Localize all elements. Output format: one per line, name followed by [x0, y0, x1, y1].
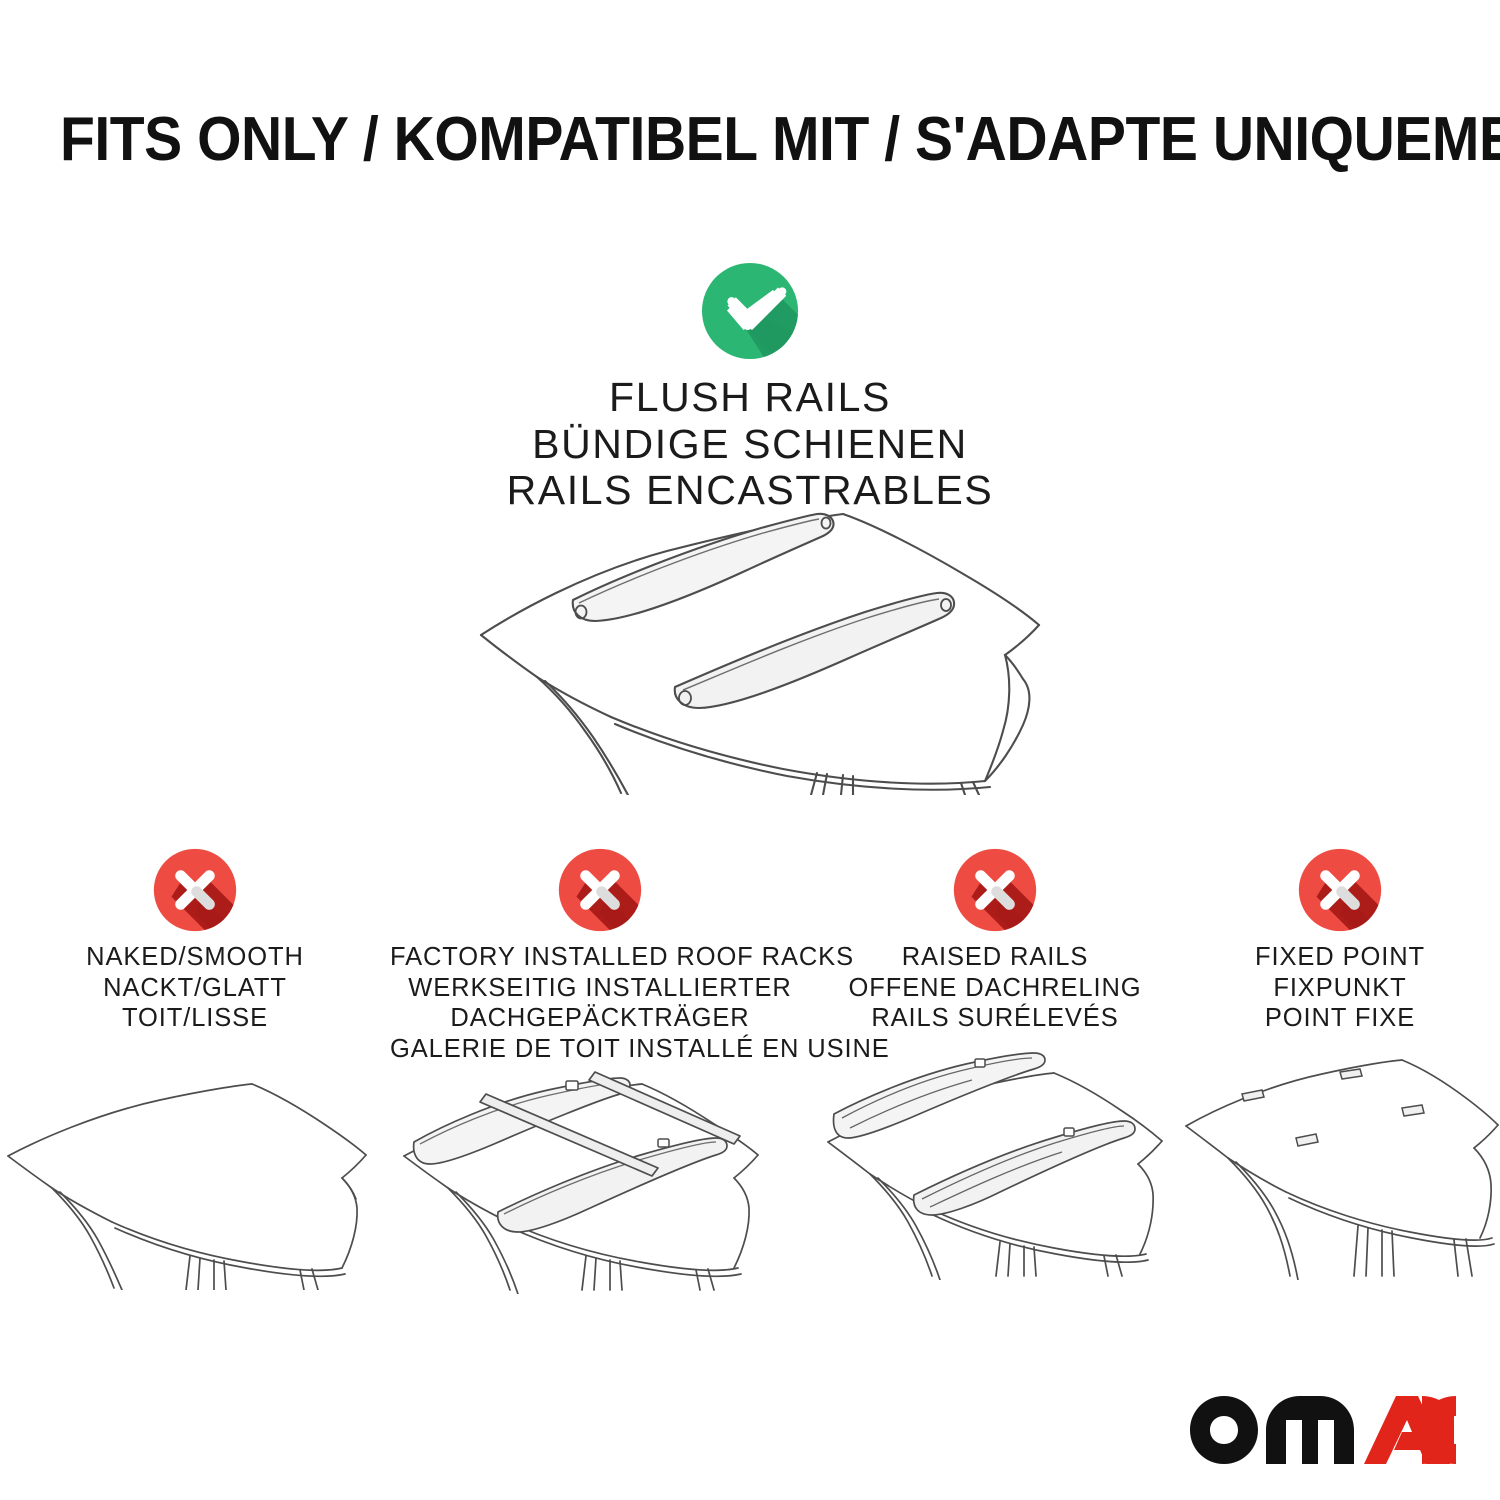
logo-letter-o	[1190, 1396, 1258, 1464]
car-roof-with-flush-rails-illustration	[445, 495, 1065, 795]
incompatible-section: NAKED/SMOOTH NACKT/GLATT TOIT/LISSE	[0, 848, 1500, 1294]
label-fr: RAILS SURÉLEVÉS	[810, 1003, 1180, 1034]
compatible-label-de: BÜNDIGE SCHIENEN	[0, 421, 1500, 468]
label-de: FIXPUNKT	[1180, 973, 1500, 1004]
fitment-infographic: FITS ONLY / KOMPATIBEL MIT / S'ADAPTE UN…	[0, 0, 1500, 1500]
red-x-icon	[558, 848, 642, 932]
label-en: NAKED/SMOOTH	[0, 942, 390, 973]
red-x-icon	[953, 848, 1037, 932]
incompatible-labels: NAKED/SMOOTH NACKT/GLATT TOIT/LISSE	[0, 942, 390, 1034]
car-roof-fixed-point-illustration	[1180, 1050, 1500, 1280]
incompatible-item-fixed-point: FIXED POINT FIXPUNKT POINT FIXE	[1180, 848, 1500, 1280]
incompatible-labels: FACTORY INSTALLED ROOF RACKS WERKSEITIG …	[390, 942, 810, 1064]
label-en: RAISED RAILS	[810, 942, 1180, 973]
label-de: OFFENE DACHRELING	[810, 973, 1180, 1004]
incompatible-labels: RAISED RAILS OFFENE DACHRELING RAILS SUR…	[810, 942, 1180, 1034]
car-roof-raised-rails-illustration	[810, 1050, 1180, 1280]
label-de-2: DACHGEPÄCKTRÄGER	[390, 1003, 810, 1034]
omac-logo	[1186, 1390, 1456, 1472]
label-en: FIXED POINT	[1180, 942, 1500, 973]
compatible-section: FLUSH RAILS BÜNDIGE SCHIENEN RAILS ENCAS…	[0, 262, 1500, 514]
label-fr: GALERIE DE TOIT INSTALLÉ EN USINE	[390, 1034, 810, 1065]
page-title: FITS ONLY / KOMPATIBEL MIT / S'ADAPTE UN…	[60, 104, 1440, 175]
car-roof-naked-smooth-illustration	[0, 1060, 390, 1290]
green-check-icon	[701, 262, 799, 360]
compatible-labels: FLUSH RAILS BÜNDIGE SCHIENEN RAILS ENCAS…	[0, 374, 1500, 514]
red-x-icon	[153, 848, 237, 932]
label-de: NACKT/GLATT	[0, 973, 390, 1004]
incompatible-item-factory-roof-racks: FACTORY INSTALLED ROOF RACKS WERKSEITIG …	[390, 848, 810, 1294]
incompatible-item-naked-smooth: NAKED/SMOOTH NACKT/GLATT TOIT/LISSE	[0, 848, 390, 1290]
red-x-icon	[1298, 848, 1382, 932]
logo-letter-m	[1266, 1396, 1354, 1464]
incompatible-item-raised-rails: RAISED RAILS OFFENE DACHRELING RAILS SUR…	[810, 848, 1180, 1280]
label-en: FACTORY INSTALLED ROOF RACKS	[390, 942, 810, 973]
label-fr: POINT FIXE	[1180, 1003, 1500, 1034]
label-fr: TOIT/LISSE	[0, 1003, 390, 1034]
compatible-label-en: FLUSH RAILS	[0, 374, 1500, 421]
label-de-1: WERKSEITIG INSTALLIERTER	[390, 973, 810, 1004]
incompatible-labels: FIXED POINT FIXPUNKT POINT FIXE	[1180, 942, 1500, 1034]
car-roof-factory-installed-roof-racks-illustration	[390, 1064, 810, 1294]
